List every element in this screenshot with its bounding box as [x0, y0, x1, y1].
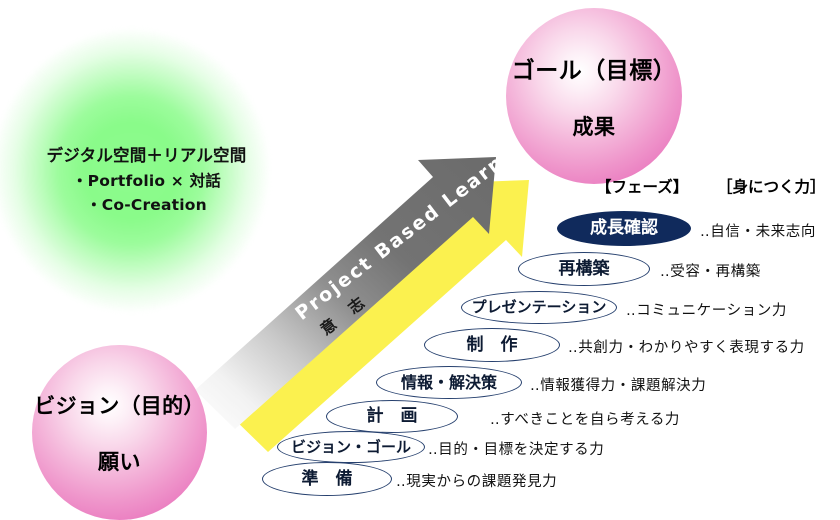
phase-pill-label: 情報・解決策 [401, 375, 497, 391]
phase-skill-description: ‥現実からの課題発見力 [396, 470, 557, 491]
goal-circle: ゴール（目標） 成果 [506, 8, 682, 184]
phase-pill[interactable]: 再構築 [518, 252, 650, 286]
phase-pill-label: 成長確認 [590, 220, 658, 237]
phase-skill-description: ‥情報獲得力・課題解決力 [530, 374, 706, 395]
phase-pill-label: プレゼンテーション [472, 300, 607, 315]
vision-circle: ビジョン（目的） 願い [32, 345, 207, 520]
phase-skill-description: ‥自信・未来志向 [700, 220, 816, 241]
phase-pill-label: 準 備 [302, 471, 353, 488]
phase-pill-label: 再構築 [559, 261, 610, 278]
phase-skill-description: ‥コミュニケーション力 [626, 299, 787, 320]
phase-skill-description: ‥受容・再構築 [660, 260, 761, 281]
phase-pill[interactable]: 成長確認 [557, 211, 691, 246]
skill-column-header: ［身につく力］ [717, 175, 826, 197]
phase-pill[interactable]: 計 画 [326, 400, 458, 433]
phase-pill-label: ビジョン・ゴール [291, 440, 411, 455]
diagram-canvas: デジタル空間＋リアル空間 ・Portfolio × 対話 ・Co-Creatio… [0, 0, 840, 504]
phase-pill[interactable]: 準 備 [262, 462, 392, 496]
goal-circle-title: ゴール（目標） [512, 51, 677, 85]
phase-pill-label: 制 作 [467, 337, 518, 354]
phase-pill[interactable]: プレゼンテーション [461, 291, 617, 324]
phase-pill[interactable]: 情報・解決策 [376, 366, 522, 399]
vision-circle-title: ビジョン（目的） [34, 390, 204, 420]
phase-pill-label: 計 画 [367, 408, 418, 425]
phase-pill[interactable]: 制 作 [424, 328, 560, 362]
phase-pill[interactable]: ビジョン・ゴール [277, 431, 425, 463]
phase-column-header: 【フェーズ】 [596, 175, 688, 197]
phase-skill-description: ‥すべきことを自ら考える力 [490, 408, 680, 429]
phase-skill-description: ‥目的・目標を決定する力 [428, 438, 604, 459]
phase-skill-description: ‥共創力・わかりやすく表現する力 [568, 336, 805, 357]
vision-circle-subtitle: 願い [98, 446, 141, 476]
goal-circle-subtitle: 成果 [573, 111, 616, 141]
